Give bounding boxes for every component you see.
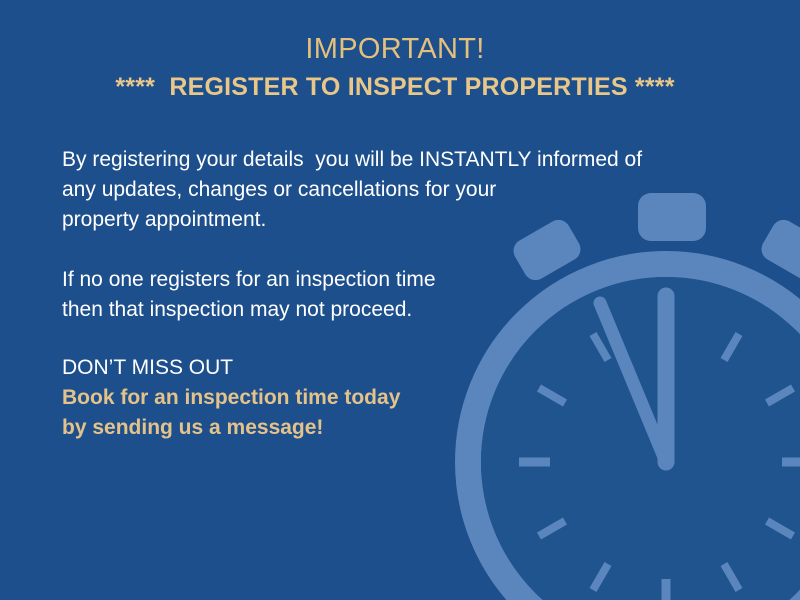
body-text: By registering your details you will be …: [62, 145, 742, 443]
page-title-important: IMPORTANT!: [0, 30, 790, 68]
paragraph-no-registrations: If no one registers for an inspection ti…: [62, 265, 742, 325]
slide-canvas: IMPORTANT! **** REGISTER TO INSPECT PROP…: [0, 0, 800, 600]
paragraph1-line3: property appointment.: [62, 205, 742, 235]
cta-dont-miss-out: DON’T MISS OUT: [62, 353, 742, 383]
paragraph1-line2: any updates, changes or cancellations fo…: [62, 175, 742, 205]
paragraph2-line1: If no one registers for an inspection ti…: [62, 265, 742, 295]
cta-send-message: by sending us a message!: [62, 413, 742, 443]
cta-book-inspection: Book for an inspection time today: [62, 383, 742, 413]
paragraph-spacer-2: [62, 325, 742, 353]
paragraph2-line2: then that inspection may not proceed.: [62, 295, 742, 325]
heading-block: IMPORTANT! **** REGISTER TO INSPECT PROP…: [0, 30, 790, 106]
paragraph-call-to-action: DON’T MISS OUT Book for an inspection ti…: [62, 353, 742, 443]
paragraph-spacer-1: [62, 235, 742, 265]
paragraph-registering-details: By registering your details you will be …: [62, 145, 742, 235]
paragraph1-line1: By registering your details you will be …: [62, 145, 742, 175]
page-subtitle-register: **** REGISTER TO INSPECT PROPERTIES ****: [0, 68, 790, 106]
